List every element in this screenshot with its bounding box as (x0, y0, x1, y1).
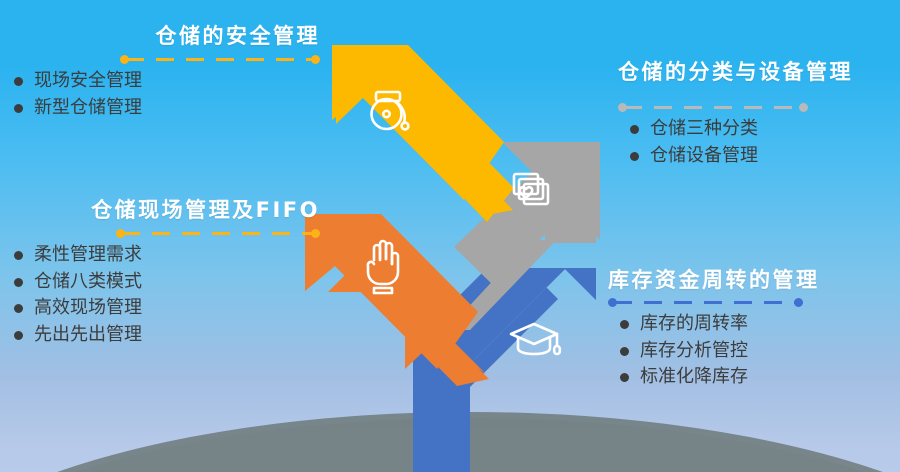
list-item-label: 库存分析管控 (640, 338, 748, 365)
list-item: 库存分析管控 (620, 338, 882, 365)
list-item: 高效现场管理 (14, 295, 320, 322)
bullet-list-category: 仓储三种分类 仓储设备管理 (630, 116, 892, 169)
section-divider-safety (120, 54, 320, 64)
list-item-label: 标准化降库存 (640, 364, 748, 391)
divider-dash (122, 232, 314, 235)
list-item: 现场安全管理 (14, 68, 320, 95)
section-fifo: 仓储现场管理及FIFO 柔性管理需求 仓储八类模式 高效现场管理 先出先出管理 (8, 198, 320, 349)
bullet-dot-icon (14, 251, 23, 260)
list-item-label: 柔性管理需求 (34, 242, 142, 269)
divider-cap-end (311, 229, 320, 238)
list-item: 新型仓储管理 (14, 95, 320, 122)
section-divider-category (618, 102, 808, 112)
list-item: 仓储设备管理 (630, 143, 892, 170)
list-item: 先出先出管理 (14, 322, 320, 349)
list-item: 库存的周转率 (620, 311, 882, 338)
section-capital: 库存资金周转的管理 库存的周转率 库存分析管控 标准化降库存 (608, 268, 882, 391)
infographic-canvas: 仓储的安全管理 现场安全管理 新型仓储管理 仓储现场管理及FIFO (0, 0, 900, 472)
bullet-dot-icon (14, 331, 23, 340)
section-title-capital: 库存资金周转的管理 (608, 268, 882, 292)
section-safety: 仓储的安全管理 现场安全管理 新型仓储管理 (8, 24, 320, 121)
bullet-list-safety: 现场安全管理 新型仓储管理 (14, 68, 320, 121)
divider-dash (614, 301, 797, 304)
bullet-list-fifo: 柔性管理需求 仓储八类模式 高效现场管理 先出先出管理 (14, 242, 320, 349)
divider-cap-end (799, 103, 808, 112)
list-item-label: 仓储八类模式 (34, 269, 142, 296)
bullet-list-capital: 库存的周转率 库存分析管控 标准化降库存 (620, 311, 882, 391)
section-divider-fifo (116, 228, 320, 238)
list-item-label: 现场安全管理 (34, 68, 142, 95)
divider-cap-end (311, 55, 320, 64)
divider-dash (126, 58, 314, 61)
section-title-safety: 仓储的安全管理 (8, 24, 320, 48)
bullet-dot-icon (620, 373, 629, 382)
bullet-dot-icon (14, 104, 23, 113)
arrow-orange[interactable] (305, 214, 489, 386)
section-category: 仓储的分类与设备管理 仓储三种分类 仓储设备管理 (618, 60, 892, 169)
bullet-dot-icon (620, 347, 629, 356)
bullet-dot-icon (620, 320, 629, 329)
list-item: 仓储八类模式 (14, 269, 320, 296)
bullet-dot-icon (14, 77, 23, 86)
list-item: 柔性管理需求 (14, 242, 320, 269)
cards-heart-icon (514, 174, 548, 204)
arrow-yellow[interactable] (332, 45, 514, 222)
bullet-dot-icon (630, 125, 639, 134)
list-item: 仓储三种分类 (630, 116, 892, 143)
section-divider-capital (608, 297, 803, 307)
section-title-category: 仓储的分类与设备管理 (618, 60, 892, 84)
list-item-label: 仓储设备管理 (650, 143, 758, 170)
divider-dash (624, 106, 802, 109)
list-item-label: 仓储三种分类 (650, 116, 758, 143)
bullet-dot-icon (14, 278, 23, 287)
section-title-fifo: 仓储现场管理及FIFO (8, 198, 320, 222)
divider-cap-end (794, 298, 803, 307)
list-item: 标准化降库存 (620, 364, 882, 391)
list-item-label: 新型仓储管理 (34, 95, 142, 122)
list-item-label: 先出先出管理 (34, 322, 142, 349)
bullet-dot-icon (14, 304, 23, 313)
list-item-label: 高效现场管理 (34, 295, 142, 322)
bullet-dot-icon (630, 152, 639, 161)
list-item-label: 库存的周转率 (640, 311, 748, 338)
